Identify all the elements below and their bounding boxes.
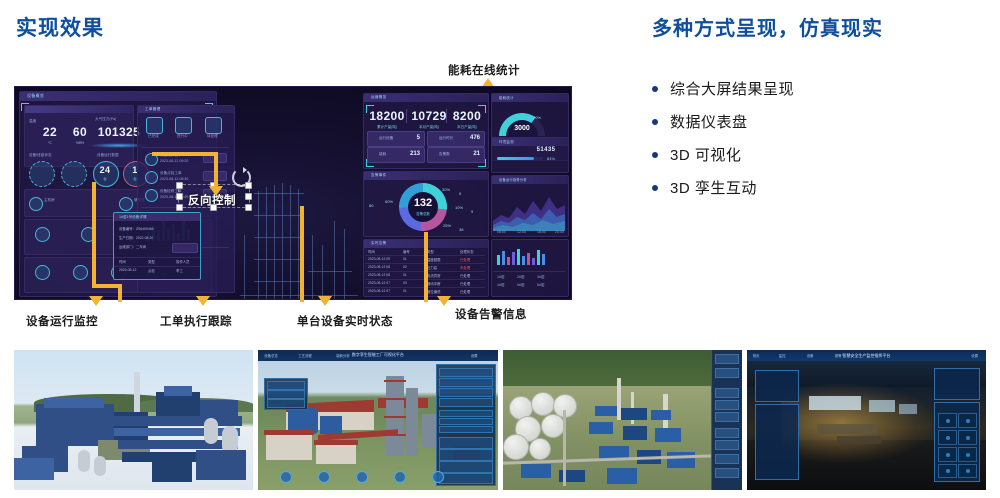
table-cell: 液位偏低 — [427, 289, 441, 294]
kpi-value: 18200 — [367, 109, 407, 123]
panel-header: 运营概览 — [364, 94, 488, 102]
kpi-value: 8200 — [449, 109, 485, 123]
kpi-chip-3: 能耗 213 — [367, 147, 425, 163]
grid-icon[interactable] — [35, 227, 50, 242]
camera-tile[interactable] — [958, 430, 977, 445]
legend-label: 4#窑 — [497, 283, 505, 288]
divider — [446, 109, 447, 123]
table-cell: 已处理 — [460, 273, 470, 278]
callout-label-4: 设备告警信息 — [455, 306, 527, 322]
chip-value: 5 — [417, 135, 420, 141]
bullet-label: 3D 可视化 — [670, 144, 741, 165]
interior-list-panel[interactable] — [755, 404, 799, 480]
wo-row-label: 设备点检工单 — [160, 171, 182, 176]
progress-track — [497, 157, 543, 160]
legend-label: 5#窑 — [517, 283, 525, 288]
table-cell: 01 — [403, 257, 407, 261]
gallery-image-plant-3d[interactable] — [14, 350, 253, 490]
interior-radar-panel[interactable] — [934, 368, 980, 400]
twin-right-panel[interactable] — [436, 364, 496, 486]
preheater-tower — [406, 388, 418, 456]
popup-col: 操作人员 — [176, 259, 190, 264]
bullet-label: 3D 孪生互动 — [670, 177, 757, 198]
camera-tile[interactable] — [938, 413, 957, 428]
section-label: 设备/班组状态 — [29, 153, 52, 158]
storage-rack — [817, 424, 877, 434]
storage-tank — [531, 392, 555, 416]
kpi-meter: 51435 — [527, 147, 565, 153]
popup-title: 1#窑1号设备详情 — [119, 215, 147, 220]
chip-value: 476 — [470, 135, 480, 141]
popup-line: 运维部门：二车间 — [119, 244, 146, 249]
process-unit — [607, 468, 637, 484]
forest-band — [503, 350, 742, 386]
wo-row-time: 2023-08-12 09:20 — [160, 159, 188, 163]
table-cell: 01 — [403, 273, 407, 277]
refinery-side-panel[interactable] — [711, 350, 742, 490]
interior-header-bar: 智慧安全生产监控指挥平台 首页 监控 设备 报警 设置 — [747, 350, 986, 361]
table-cell: 2023-08-12 08 — [368, 265, 390, 269]
stacked-bar-chart — [497, 249, 545, 265]
table-cell: 未处理 — [460, 265, 470, 270]
selection-handle — [245, 182, 252, 189]
chip-value: 21 — [473, 151, 480, 157]
storage-tank — [529, 438, 551, 460]
progress-fill — [497, 157, 534, 160]
legend-label: 6#窑 — [537, 283, 545, 288]
tower-frame — [384, 380, 406, 382]
panel-title: 能耗统计 — [499, 95, 514, 100]
bullet-dot-icon — [652, 185, 658, 191]
panel-header: 工单管理 — [138, 106, 234, 113]
leader-line-vertical — [118, 284, 122, 302]
panel-title: 环境监测 — [499, 139, 514, 144]
twin-header-meta: 能耗分析 — [336, 353, 350, 358]
kpi-unit: 台 — [93, 177, 117, 182]
selection-handle — [176, 182, 183, 189]
panel-header: 设备概览 — [20, 92, 216, 101]
callout-arrow-icon — [437, 296, 451, 306]
callout-label-3: 单台设备实时状态 — [297, 313, 393, 329]
leader-arrow-icon — [209, 186, 223, 196]
gallery-image-digital-twin[interactable]: 数字孪生智能工厂可视化平台 设备总览 工艺流程 能耗分析 设置 — [258, 350, 497, 490]
twin-left-panel[interactable] — [264, 378, 308, 410]
interior-header-title: 智慧安全生产监控指挥平台 — [842, 353, 890, 359]
donut-pct-2: 60% — [385, 199, 393, 204]
popup-history-button[interactable] — [172, 243, 198, 253]
gallery-strip: 数字孪生智能工厂可视化平台 设备总览 工艺流程 能耗分析 设置 — [14, 350, 986, 490]
popup-col: 类型 — [148, 259, 155, 264]
chip-value: 213 — [410, 151, 420, 157]
ring-meter-2 — [61, 161, 87, 187]
env-temp-label: 温度 — [29, 119, 36, 124]
kpi-label: 本日产量(吨) — [449, 125, 485, 130]
kpi-count-a: 24 台 — [93, 165, 117, 182]
panel-header: 能耗统计 — [492, 94, 568, 102]
leader-line-horizontal — [152, 152, 218, 156]
window-panel — [869, 400, 895, 412]
panel-title: 设备运行趋势分析 — [499, 177, 527, 182]
gauge-pct: 70% — [533, 115, 541, 120]
divider — [141, 147, 229, 148]
leader-line-vertical — [214, 152, 218, 190]
meter-pct: 81% — [547, 156, 555, 161]
window-panel — [809, 396, 861, 410]
storage-tank — [503, 434, 529, 460]
panel-header: 环境监测 — [492, 138, 568, 146]
trend-area-chart — [493, 187, 565, 231]
list-icon — [119, 197, 133, 211]
road — [563, 410, 566, 486]
kpi-chip-4: 告警数 21 — [427, 147, 485, 163]
interior-header-meta: 监控 — [779, 353, 786, 358]
wo-row-icon — [145, 171, 158, 184]
interior-header-meta: 首页 — [753, 353, 760, 358]
gauge-value: 3000 — [499, 125, 545, 132]
bullet-label: 数据仪表盘 — [670, 111, 748, 132]
kpi-unit: ℃ — [33, 141, 67, 145]
popup-line: 设备编号：ZS6459466 — [119, 226, 154, 231]
donut-label-4: 38 — [459, 227, 463, 232]
divider — [493, 271, 565, 272]
bullet-dot-icon — [652, 86, 658, 92]
interior-header-meta: 设置 — [971, 353, 978, 358]
twin-header-meta: 设备总览 — [264, 353, 278, 358]
selection-handle — [176, 193, 183, 200]
twin-header-meta: 设置 — [471, 353, 478, 358]
table-cell: 温度超限 — [427, 257, 441, 262]
chip-label: 运行时长 — [439, 136, 453, 141]
table-cell: 压力高 — [427, 265, 437, 270]
gallery-image-indoor-twin[interactable]: 智慧安全生产监控指挥平台 首页 监控 设备 报警 设置 — [747, 350, 986, 490]
popup-col: 时间 — [119, 259, 126, 264]
twin-bottom-toolbar[interactable] — [280, 471, 460, 485]
selection-handle — [245, 193, 252, 200]
chip-label: 运行设备 — [379, 136, 393, 141]
tower-frame — [384, 398, 406, 400]
tank — [78, 450, 90, 472]
wo-row-time: 2023-08-12 08:40 — [160, 177, 188, 181]
env-pressure-label: 大气压力(Pa) — [95, 117, 116, 122]
bullet-dot-icon — [652, 119, 658, 125]
wo-icon-card[interactable] — [175, 117, 192, 134]
pipe-rack — [118, 440, 238, 449]
donut-center: 132 告警总数 — [408, 192, 438, 222]
table-cell: 02 — [403, 265, 407, 269]
selection-handle — [210, 204, 217, 211]
slide-page: 实现效果 多种方式呈现，仿真现实 综合大屏结果呈现 数据仪表盘 3D 可视化 3… — [0, 0, 1000, 498]
table-cell: 已处理 — [460, 289, 470, 294]
process-unit — [651, 410, 671, 420]
panel-header: 告警事件 — [364, 172, 488, 180]
table-cell: 通讯中断 — [427, 281, 441, 286]
process-unit — [621, 408, 647, 420]
panel-title: 设备概览 — [27, 93, 44, 99]
axis-tick: 08:00 — [497, 230, 506, 234]
callout-arrow-icon — [318, 296, 332, 306]
panel-env-monitor: 环境监测 — [491, 137, 569, 173]
table-cell: 2023-08-12 07 — [368, 289, 390, 293]
kpi-label: 本月产量(吨) — [409, 125, 449, 130]
donut-pct-4: 25% — [443, 223, 451, 228]
donut-label-1: 5 — [459, 191, 461, 196]
table-cell: 03 — [403, 281, 407, 285]
bullet-dot-icon — [652, 152, 658, 158]
grid-icon[interactable] — [73, 265, 88, 280]
kpi-value: 10729 — [409, 109, 449, 123]
divider — [406, 109, 407, 123]
list-item: 3D 可视化 — [652, 144, 992, 165]
bullet-label: 综合大屏结果呈现 — [670, 78, 794, 99]
table-header: 处理状态 — [460, 249, 474, 254]
donut-pct-1: 30% — [442, 187, 450, 192]
page-title-right: 多种方式呈现，仿真现实 — [652, 12, 883, 41]
device-detail-popup[interactable]: 1#窑1号设备详情 设备编号：ZS6459466 生产日期：2022-08-20… — [113, 212, 201, 280]
page-title-left: 实现效果 — [16, 12, 104, 42]
popup-cell: 点检 — [148, 268, 155, 273]
table-cell: 已处理 — [460, 257, 470, 262]
kpi-value: 24 — [93, 165, 117, 175]
table-cell: 01 — [403, 289, 407, 293]
building — [164, 386, 192, 396]
selection-handle — [245, 204, 252, 211]
leader-line-vertical — [424, 232, 428, 302]
list-item: 数据仪表盘 — [652, 111, 992, 132]
wo-icon-card[interactable] — [146, 117, 163, 134]
table-cell: 已处理 — [460, 281, 470, 286]
grid-icon[interactable] — [35, 265, 50, 280]
office-building — [316, 444, 356, 464]
donut-pct-3: 10% — [455, 205, 463, 210]
table-header: 编号 — [403, 249, 410, 254]
wo-card-label: 已完成 — [148, 134, 159, 139]
interior-header-meta: 报警 — [835, 353, 842, 358]
axis-tick: 12:00 — [517, 230, 526, 234]
twin-header-meta: 工艺流程 — [298, 353, 312, 358]
process-unit — [655, 428, 681, 442]
panel-header — [25, 106, 133, 113]
office-roof — [314, 440, 358, 445]
interior-header-meta: 设备 — [807, 353, 814, 358]
dashboard-screenshot: 设备概览 温度 22 ℃ 60 %RH 大气压力(Pa) 101325 设备/班… — [14, 86, 572, 300]
building — [152, 458, 192, 482]
kpi-temperature: 22 ℃ — [33, 125, 67, 145]
process-unit — [521, 464, 551, 478]
leader-line-vertical — [92, 182, 96, 286]
process-unit — [623, 426, 647, 440]
list-item: 综合大屏结果呈现 — [652, 78, 992, 99]
donut-label-3: 9 — [471, 209, 473, 214]
equipment — [320, 416, 342, 434]
interior-map-panel[interactable] — [755, 370, 799, 402]
process-unit — [589, 422, 613, 434]
camera-tile[interactable] — [958, 447, 977, 462]
wo-card-label: 待处理 — [207, 134, 218, 139]
storage-tank — [541, 414, 565, 438]
panel-header: 设备运行趋势分析 — [492, 176, 568, 184]
table-cell: 2023-08-12 09 — [368, 257, 390, 261]
table-cell: 2023-08-12 08 — [368, 273, 390, 277]
donut-sub: 告警总数 — [416, 211, 430, 216]
twin-header-bar: 数字孪生智能工厂可视化平台 设备总览 工艺流程 能耗分析 设置 — [258, 350, 497, 361]
leader-line-vertical — [300, 206, 304, 302]
kpi-chip-1: 运行设备 5 — [367, 131, 425, 147]
kpi-value: 51435 — [527, 147, 565, 153]
legend-label: 3#窑 — [537, 275, 545, 280]
panel-title: 告警事件 — [371, 173, 387, 178]
camera-tile[interactable] — [938, 430, 957, 445]
camera-tile[interactable] — [938, 464, 957, 478]
donut-value: 132 — [414, 198, 432, 209]
camera-tile[interactable] — [958, 413, 977, 428]
camera-tile[interactable] — [958, 464, 977, 478]
tower-frame — [384, 416, 406, 418]
chip-label: 能耗 — [379, 152, 386, 157]
list-label: 主机房 — [44, 198, 55, 203]
window-panel — [899, 404, 917, 414]
legend-label: 2#窑 — [517, 275, 525, 280]
tank — [204, 418, 218, 444]
alarm-donut-chart: 132 告警总数 — [399, 183, 447, 231]
popup-line: 生产日期：2022-08-20 — [119, 235, 153, 240]
kpi-total-1: 18200 累计产量(吨) — [367, 109, 407, 130]
building — [44, 398, 104, 408]
building — [196, 450, 246, 480]
panel-title: 实时告警 — [371, 241, 387, 246]
callout-label-2: 工单执行跟踪 — [160, 313, 232, 329]
donut-label-2: 80 — [369, 203, 373, 208]
kpi-chip-2: 运行时长 476 — [427, 131, 485, 147]
kpi-value: 22 — [33, 125, 67, 139]
callout-arrow-icon — [89, 296, 103, 306]
wo-row-icon — [145, 189, 158, 202]
interior-camera-panel[interactable] — [934, 402, 980, 482]
callout-label-1: 设备运行监控 — [26, 313, 98, 329]
popup-cell: 李工 — [176, 268, 183, 273]
wo-icon-card[interactable] — [205, 117, 222, 134]
kpi-label: 累计产量(吨) — [367, 125, 407, 130]
chip-label: 告警数 — [439, 152, 450, 157]
feature-bullet-list: 综合大屏结果呈现 数据仪表盘 3D 可视化 3D 孪生互动 — [652, 78, 992, 210]
table-cell: 2023-08-12 07 — [368, 281, 390, 285]
office-building — [266, 434, 312, 460]
axis-tick: 20:00 — [555, 230, 564, 234]
office-roof — [264, 430, 314, 435]
panel-title: 运营概览 — [371, 95, 387, 100]
list-icon — [29, 197, 43, 211]
popup-cell: 2023-08-12 — [119, 268, 136, 272]
tank — [94, 456, 106, 476]
wo-card-label: 进行中 — [177, 134, 188, 139]
pipe-rack — [110, 416, 242, 426]
storage-rack — [837, 436, 881, 444]
twin-header-title: 数字孪生智能工厂可视化平台 — [352, 352, 404, 358]
selection-handle — [176, 204, 183, 211]
gallery-image-refinery-aerial[interactable] — [503, 350, 742, 490]
callout-label-energy: 能耗在线统计 — [448, 62, 520, 78]
panel-bottom-bars — [491, 239, 569, 297]
table-cell: 电流异常 — [427, 273, 441, 278]
camera-tile[interactable] — [938, 447, 957, 462]
kpi-total-2: 10729 本月产量(吨) — [409, 109, 449, 130]
callout-arrow-icon — [196, 296, 210, 306]
process-unit — [595, 406, 617, 416]
ring-meter-1 — [29, 161, 55, 187]
table-header: 时间 — [368, 249, 375, 254]
table-header: 类型 — [427, 249, 434, 254]
legend-label: 1#窑 — [497, 275, 505, 280]
axis-tick: 16:00 — [537, 230, 546, 234]
building — [14, 458, 54, 480]
list-item: 3D 孪生互动 — [652, 177, 992, 198]
panel-title: 工单管理 — [145, 107, 161, 112]
kpi-total-3: 8200 本日产量(吨) — [449, 109, 485, 130]
section-label: 设备运行数据 — [97, 153, 119, 158]
